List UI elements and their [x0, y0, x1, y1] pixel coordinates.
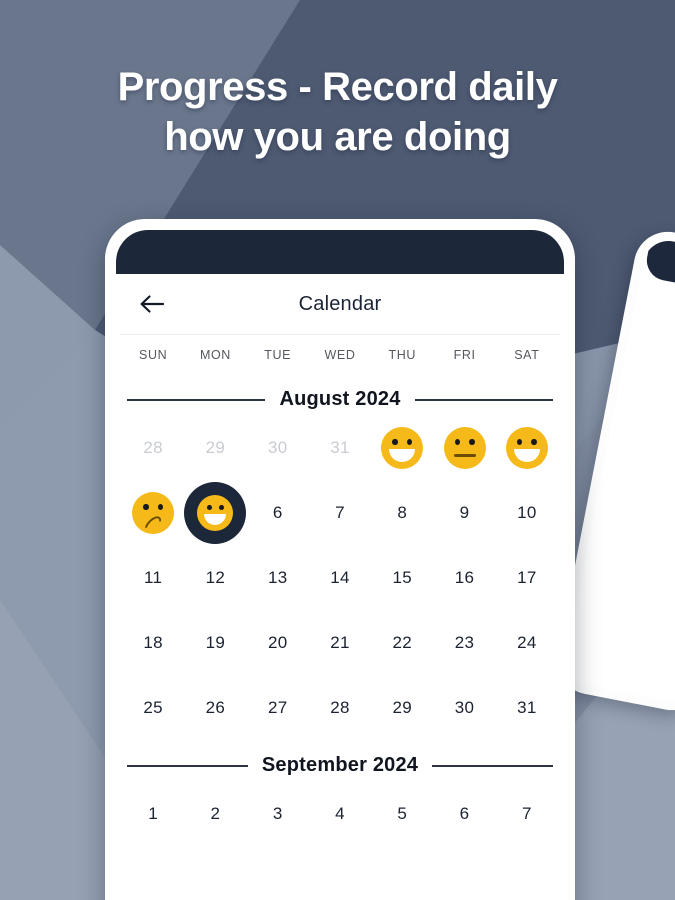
- day-cell[interactable]: 5: [371, 781, 433, 846]
- page-title: Progress - Record daily how you are doin…: [0, 62, 675, 162]
- day-cell[interactable]: 3: [247, 781, 309, 846]
- day-cell[interactable]: 31: [496, 675, 558, 740]
- day-number: 8: [397, 503, 407, 523]
- day-cell[interactable]: 20: [247, 610, 309, 675]
- day-cell[interactable]: 19: [184, 610, 246, 675]
- day-number: 1: [148, 804, 158, 824]
- day-cell[interactable]: 12: [184, 545, 246, 610]
- day-cell[interactable]: 16: [433, 545, 495, 610]
- face-eye-left: [143, 504, 149, 511]
- day-cell[interactable]: 4: [309, 781, 371, 846]
- day-cell[interactable]: 25: [122, 675, 184, 740]
- day-cell[interactable]: 21: [309, 610, 371, 675]
- day-number: 13: [268, 568, 288, 588]
- day-cell[interactable]: 6: [247, 480, 309, 545]
- month-rule-right: [432, 765, 553, 767]
- happy-face-icon: [381, 427, 423, 469]
- month-header: September 2024: [116, 754, 564, 777]
- day-cell[interactable]: 24: [496, 610, 558, 675]
- month-title: September 2024: [262, 754, 418, 777]
- weekday-label: TUE: [247, 348, 309, 362]
- day-cell[interactable]: 29: [371, 675, 433, 740]
- day-number: 31: [517, 698, 537, 718]
- day-cell[interactable]: [496, 415, 558, 480]
- day-number: 6: [273, 503, 283, 523]
- day-number: 20: [268, 633, 288, 653]
- day-number: 10: [517, 503, 537, 523]
- day-number: 27: [268, 698, 288, 718]
- face-eye-right: [469, 439, 475, 446]
- day-number: 30: [455, 698, 475, 718]
- day-cell[interactable]: 9: [433, 480, 495, 545]
- day-cell[interactable]: 28: [309, 675, 371, 740]
- face-mouth: [389, 449, 415, 462]
- day-number: 5: [397, 804, 407, 824]
- secondary-phone-status-bar: [643, 237, 675, 300]
- day-number: 4: [335, 804, 345, 824]
- weekday-label: WED: [309, 348, 371, 362]
- day-cell[interactable]: 10: [496, 480, 558, 545]
- face-eye-right: [531, 439, 537, 446]
- month-rule-right: [415, 399, 553, 401]
- day-cell[interactable]: 27: [247, 675, 309, 740]
- month-header: August 2024: [116, 388, 564, 411]
- day-number: 17: [517, 568, 537, 588]
- day-number: 19: [206, 633, 226, 653]
- day-cell[interactable]: 26: [184, 675, 246, 740]
- arrow-left-icon: [139, 294, 165, 314]
- day-number: 29: [393, 698, 413, 718]
- month-title: August 2024: [279, 388, 400, 411]
- day-cell[interactable]: 7: [496, 781, 558, 846]
- day-number: 21: [330, 633, 350, 653]
- happy-face-icon: [197, 495, 233, 531]
- phone-mockup: Calendar SUNMONTUEWEDTHUFRISAT August 20…: [105, 219, 575, 900]
- day-cell[interactable]: [433, 415, 495, 480]
- weekday-label: THU: [371, 348, 433, 362]
- day-number: 16: [455, 568, 475, 588]
- day-number: 28: [330, 698, 350, 718]
- face-eye-left: [207, 505, 212, 511]
- day-number: 14: [330, 568, 350, 588]
- day-number: 15: [393, 568, 413, 588]
- day-number: 29: [206, 438, 226, 458]
- day-number: 18: [143, 633, 163, 653]
- promo-screenshot: Progress - Record daily how you are doin…: [0, 0, 675, 900]
- day-cell[interactable]: 18: [122, 610, 184, 675]
- face-mouth: [142, 513, 164, 535]
- weekday-label: FRI: [433, 348, 495, 362]
- day-number: 2: [211, 804, 221, 824]
- day-number: 6: [460, 804, 470, 824]
- day-cell[interactable]: [371, 415, 433, 480]
- day-number: 11: [144, 568, 162, 588]
- happy-face-icon: [506, 427, 548, 469]
- day-cell[interactable]: 22: [371, 610, 433, 675]
- day-grid: 2829303167891011121314151617181920212223…: [116, 415, 564, 740]
- day-cell[interactable]: 15: [371, 545, 433, 610]
- day-cell[interactable]: 13: [247, 545, 309, 610]
- day-cell[interactable]: 30: [433, 675, 495, 740]
- weekday-label: MON: [184, 348, 246, 362]
- headline-line-2: how you are doing: [0, 112, 675, 162]
- day-cell[interactable]: 30: [247, 415, 309, 480]
- day-number: 23: [455, 633, 475, 653]
- day-cell[interactable]: 1: [122, 781, 184, 846]
- face-mouth: [514, 449, 540, 462]
- day-cell[interactable]: 6: [433, 781, 495, 846]
- headline-line-1: Progress - Record daily: [0, 62, 675, 112]
- status-bar: [116, 230, 564, 274]
- months-container: August 202428293031678910111213141516171…: [116, 388, 564, 846]
- day-cell[interactable]: 23: [433, 610, 495, 675]
- day-cell[interactable]: 14: [309, 545, 371, 610]
- app-bar: Calendar: [116, 274, 564, 334]
- day-number: 12: [206, 568, 226, 588]
- day-number: 7: [335, 503, 345, 523]
- day-number: 9: [460, 503, 470, 523]
- face-eye-right: [158, 504, 164, 511]
- day-cell[interactable]: 11: [122, 545, 184, 610]
- phone-screen: Calendar SUNMONTUEWEDTHUFRISAT August 20…: [116, 230, 564, 900]
- back-button[interactable]: [132, 284, 172, 324]
- day-cell[interactable]: 31: [309, 415, 371, 480]
- app-bar-title: Calendar: [116, 293, 564, 316]
- weekday-label: SUN: [122, 348, 184, 362]
- day-cell[interactable]: 17: [496, 545, 558, 610]
- month-rule-left: [127, 765, 248, 767]
- day-cell[interactable]: 28: [122, 415, 184, 480]
- day-cell[interactable]: [184, 480, 246, 545]
- face-eye-left: [392, 439, 398, 446]
- face-mouth: [454, 454, 476, 457]
- neutral-face-icon: [444, 427, 486, 469]
- day-cell[interactable]: 7: [309, 480, 371, 545]
- weekday-label: SAT: [496, 348, 558, 362]
- day-number: 30: [268, 438, 288, 458]
- day-number: 26: [206, 698, 226, 718]
- day-number: 3: [273, 804, 283, 824]
- face-eye-right: [407, 439, 413, 446]
- day-cell[interactable]: 29: [184, 415, 246, 480]
- day-number: 31: [330, 438, 350, 458]
- face-eye-left: [455, 439, 461, 446]
- day-number: 22: [393, 633, 413, 653]
- weekday-header-row: SUNMONTUEWEDTHUFRISAT: [116, 335, 564, 374]
- day-number: 25: [143, 698, 163, 718]
- face-eye-right: [219, 505, 224, 511]
- day-cell[interactable]: 8: [371, 480, 433, 545]
- month-rule-left: [127, 399, 265, 401]
- day-number: 28: [143, 438, 163, 458]
- day-cell[interactable]: 2: [184, 781, 246, 846]
- face-eye-left: [517, 439, 523, 446]
- day-cell[interactable]: [122, 480, 184, 545]
- day-number: 7: [522, 804, 532, 824]
- face-mouth: [204, 514, 226, 525]
- day-grid: 1234567: [116, 781, 564, 846]
- sad-face-icon: [132, 492, 174, 534]
- selected-day-indicator[interactable]: [184, 482, 246, 544]
- day-number: 24: [517, 633, 537, 653]
